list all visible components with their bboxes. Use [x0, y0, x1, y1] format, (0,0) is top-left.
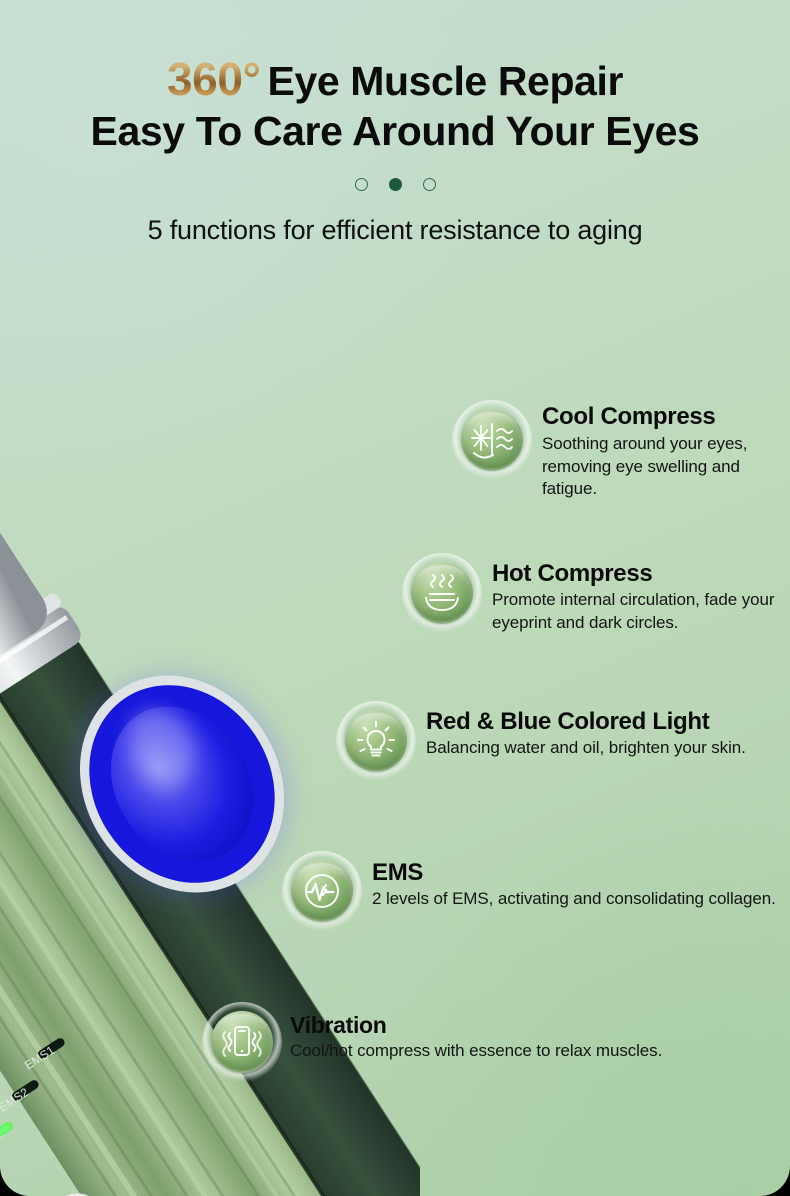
feature-text-cool-compress: Cool Compress Soothing around your eyes,… [542, 400, 790, 501]
feature-badge-cool-compress [452, 400, 532, 480]
feature-list: Cool Compress Soothing around your eyes,… [0, 0, 790, 1196]
light-bulb-icon [355, 720, 397, 762]
steam-bowl-icon [421, 573, 463, 613]
vibrating-device-icon [220, 1021, 264, 1063]
product-infographic-page: 360°Eye Muscle Repair Easy To Care Aroun… [0, 0, 790, 1196]
feature-description-ems: 2 levels of EMS, activating and consolid… [372, 888, 776, 910]
feature-badge-ems [282, 851, 362, 931]
feature-description-cool-compress: Soothing around your eyes, removing eye … [542, 433, 790, 500]
feature-item-ems: EMS 2 levels of EMS, activating and cons… [282, 851, 776, 931]
feature-title-colored-light: Red & Blue Colored Light [426, 709, 746, 734]
feature-description-hot-compress: Promote internal circulation, fade your … [492, 589, 790, 634]
feature-item-colored-light: Red & Blue Colored Light Balancing water… [336, 701, 746, 781]
feature-item-vibration: Vibration Cool/hot compress with essence… [202, 1002, 662, 1082]
feature-badge-vibration [202, 1002, 282, 1082]
feature-title-ems: EMS [372, 860, 776, 885]
feature-title-hot-compress: Hot Compress [492, 561, 790, 586]
feature-item-cool-compress: Cool Compress Soothing around your eyes,… [452, 400, 790, 501]
feature-item-hot-compress: Hot Compress Promote internal circulatio… [402, 553, 790, 634]
feature-description-colored-light: Balancing water and oil, brighten your s… [426, 737, 746, 759]
feature-text-hot-compress: Hot Compress Promote internal circulatio… [492, 553, 790, 634]
feature-title-vibration: Vibration [290, 1013, 662, 1037]
feature-text-vibration: Vibration Cool/hot compress with essence… [290, 1002, 662, 1063]
feature-badge-colored-light [336, 701, 416, 781]
snowflake-waves-icon [470, 420, 514, 460]
feature-title-cool-compress: Cool Compress [542, 404, 790, 429]
feature-badge-hot-compress [402, 553, 482, 633]
pulse-heartbeat-icon [299, 868, 345, 914]
feature-description-vibration: Cool/hot compress with essence to relax … [290, 1040, 662, 1062]
feature-text-ems: EMS 2 levels of EMS, activating and cons… [372, 851, 776, 911]
feature-text-colored-light: Red & Blue Colored Light Balancing water… [426, 701, 746, 760]
